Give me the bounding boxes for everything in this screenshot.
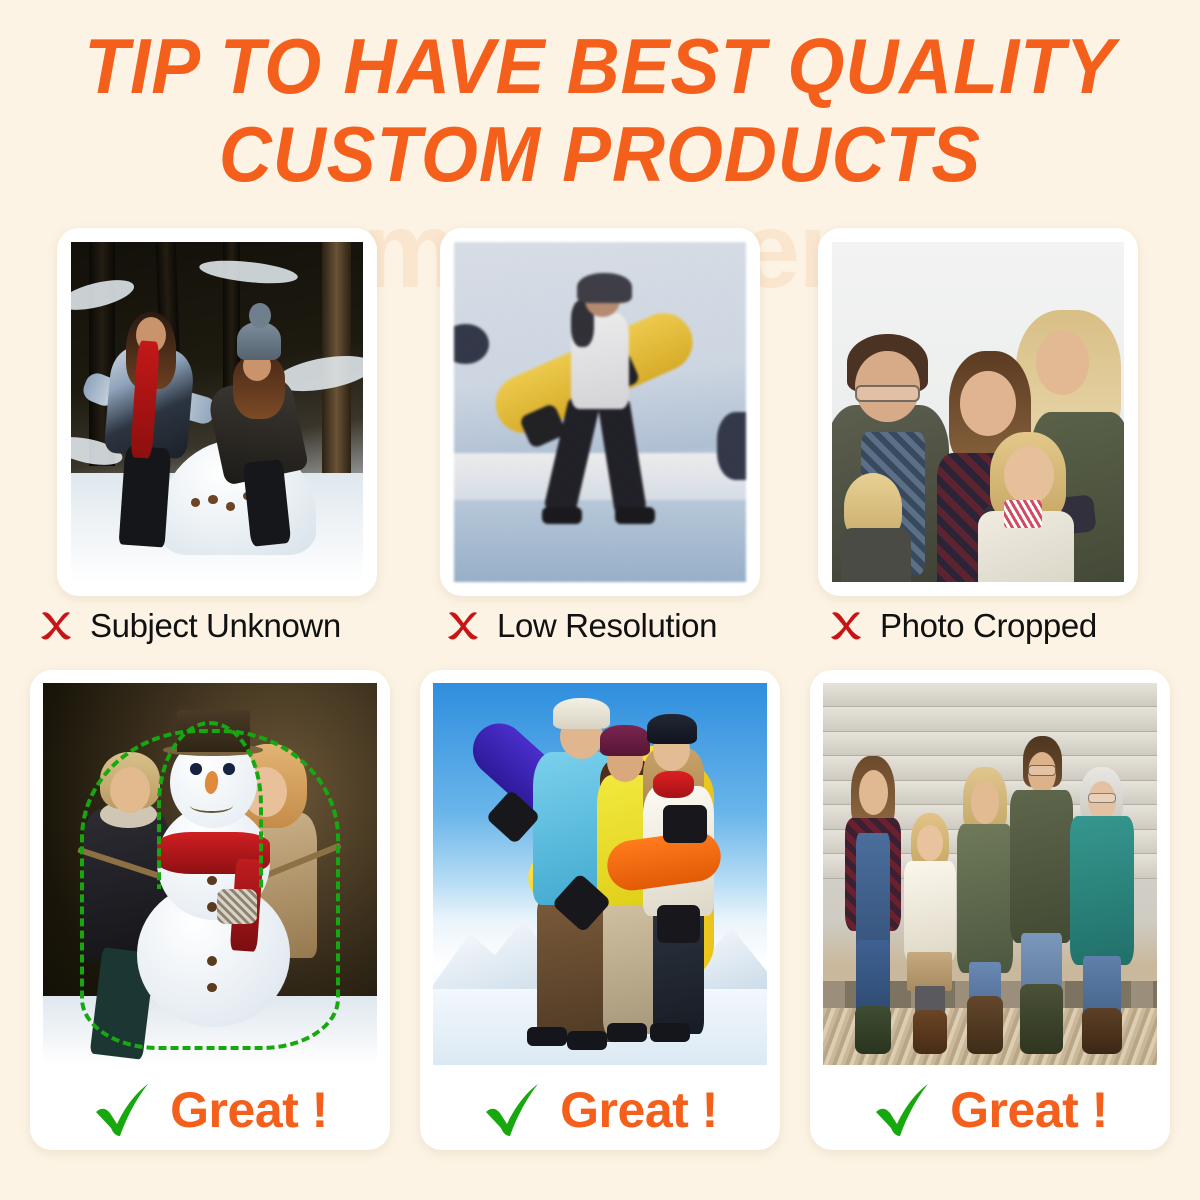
caption-label: Great ! <box>950 1081 1108 1139</box>
caption-label: Great ! <box>560 1081 718 1139</box>
x-mark-icon <box>443 606 483 646</box>
caption-great-2: Great ! <box>433 1067 767 1150</box>
check-mark-icon <box>872 1081 932 1139</box>
caption-low-resolution: Low Resolution <box>443 606 717 646</box>
card-subject-unknown[interactable] <box>57 228 377 596</box>
page-title-line-2: CUSTOM PRODUCTS <box>36 110 1164 198</box>
caption-great-1: Great ! <box>43 1067 377 1150</box>
card-low-resolution[interactable] <box>440 228 760 596</box>
examples-grid: Great ! Great ! <box>0 228 1200 1158</box>
caption-label: Photo Cropped <box>880 607 1097 645</box>
x-mark-icon <box>826 606 866 646</box>
photo-great-1 <box>43 683 377 1065</box>
photo-great-2 <box>433 683 767 1065</box>
card-great-2[interactable]: Great ! <box>420 670 780 1150</box>
page-title-line-1: TIP TO HAVE BEST QUALITY <box>36 22 1164 110</box>
caption-label: Low Resolution <box>497 607 717 645</box>
card-photo-cropped[interactable] <box>818 228 1138 596</box>
page-title: TIP TO HAVE BEST QUALITY CUSTOM PRODUCTS <box>0 22 1200 198</box>
caption-label: Great ! <box>170 1081 328 1139</box>
card-great-3[interactable]: Great ! <box>810 670 1170 1150</box>
caption-label: Subject Unknown <box>90 607 341 645</box>
check-mark-icon <box>482 1081 542 1139</box>
photo-great-3 <box>823 683 1157 1065</box>
caption-photo-cropped: Photo Cropped <box>826 606 1097 646</box>
x-mark-icon <box>36 606 76 646</box>
card-great-1[interactable]: Great ! <box>30 670 390 1150</box>
photo-low-resolution <box>454 242 746 582</box>
caption-subject-unknown: Subject Unknown <box>36 606 341 646</box>
caption-great-3: Great ! <box>823 1067 1157 1150</box>
check-mark-icon <box>92 1081 152 1139</box>
photo-photo-cropped <box>832 242 1124 582</box>
photo-subject-unknown <box>71 242 363 582</box>
